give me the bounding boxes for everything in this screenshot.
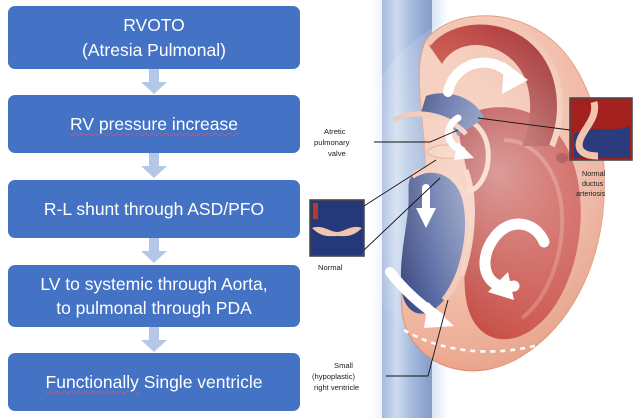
flow-box-rvoto-line-1: RVOTO <box>123 13 185 37</box>
inset-normal-ductus-caption-line-2: ductus <box>582 179 604 188</box>
flow-box-single-ventricle-word-functionally: Functionally <box>46 372 139 392</box>
inset-normal-ductus-caption-line-3: arteriosis <box>576 189 606 198</box>
heart-anatomy-illustration: Normal Normal ductus arteriosis Atretic … <box>308 0 640 418</box>
flow-box-rvoto[interactable]: RVOTO (Atresia Pulmonal) <box>8 6 300 69</box>
label-atretic-valve-line-2: pulmonary <box>314 138 350 147</box>
flow-arrow-3-wrap <box>0 238 308 264</box>
flow-box-rl-shunt-line-1: R-L shunt through ASD/PFO <box>44 197 264 221</box>
flow-box-single-ventricle[interactable]: Functionally Single ventricle <box>8 353 300 411</box>
flow-arrow-4-wrap <box>0 327 308 353</box>
arrow-down-icon <box>139 238 169 264</box>
flow-box-lv-systemic-line-2: to pulmonal through PDA <box>56 296 252 320</box>
flow-box-lv-systemic[interactable]: LV to systemic through Aorta, to pulmona… <box>8 265 300 327</box>
flow-box-single-ventricle-line-1: Functionally Single ventricle <box>46 370 263 394</box>
flow-box-rv-pressure[interactable]: RV pressure increase <box>8 95 300 153</box>
flow-arrow-1-wrap <box>0 69 308 95</box>
pathophysiology-flowchart: RVOTO (Atresia Pulmonal) RV pressure inc… <box>0 0 308 418</box>
figure-root: RVOTO (Atresia Pulmonal) RV pressure inc… <box>0 0 640 418</box>
label-atretic-valve-line-1: Atretic <box>324 127 346 136</box>
label-small-rv-line-1: Small <box>334 361 353 370</box>
label-atretic-valve-line-3: valve <box>328 149 346 158</box>
inset-normal-valve-caption: Normal <box>318 263 343 272</box>
flow-box-rl-shunt[interactable]: R-L shunt through ASD/PFO <box>8 180 300 238</box>
flow-arrow-2-wrap <box>0 153 308 179</box>
arrow-down-icon <box>139 69 169 95</box>
flow-box-rvoto-line-2: (Atresia Pulmonal) <box>82 38 226 62</box>
arrow-down-icon <box>139 327 169 353</box>
flow-box-single-ventricle-rest: Single ventricle <box>139 372 263 392</box>
inset-normal-ductus-caption-line-1: Normal <box>582 169 606 178</box>
label-small-rv-line-3: right ventricle <box>314 383 359 392</box>
inset-normal-valve-redstrip <box>313 203 318 219</box>
flow-box-lv-systemic-line-1: LV to systemic through Aorta, <box>40 272 267 296</box>
heart-anatomy-svg: Normal Normal ductus arteriosis Atretic … <box>308 0 640 418</box>
label-small-rv-line-2: (hypoplastic) <box>312 372 356 381</box>
flow-box-rv-pressure-line-1: RV pressure increase <box>70 112 238 136</box>
arrow-down-icon <box>139 153 169 179</box>
